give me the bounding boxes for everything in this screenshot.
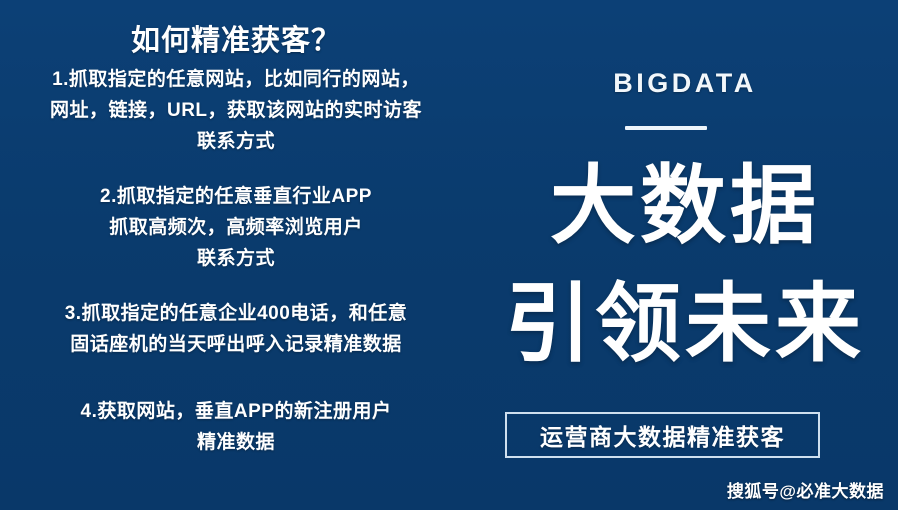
list-item: 2.抓取指定的任意垂直行业APP 抓取高频次，高频率浏览用户 联系方式 — [0, 181, 472, 274]
divider-rule — [625, 126, 707, 130]
bullet-1-line-1: 1.抓取指定的任意网站，比如同行的网站， — [0, 64, 472, 95]
watermark: 搜狐号@必准大数据 — [727, 477, 884, 502]
list-item: 1.抓取指定的任意网站，比如同行的网站， 网址，链接，URL，获取该网站的实时访… — [0, 64, 472, 157]
bullet-4-line-1: 4.获取网站，垂直APP的新注册用户 — [0, 396, 472, 427]
tagline-box: 运营商大数据精准获客 — [505, 412, 820, 458]
bullet-2-line-3: 联系方式 — [0, 243, 472, 274]
bullet-4-line-2: 精准数据 — [0, 427, 472, 458]
tagline-text: 运营商大数据精准获客 — [540, 418, 785, 452]
brand-headline-line-1: 大数据 — [472, 160, 898, 252]
list-item: 3.抓取指定的任意企业400电话，和任意 固话座机的当天呼出呼入记录精准数据 — [0, 298, 472, 360]
bullet-1-line-2: 网址，链接，URL，获取该网站的实时访客 — [0, 95, 472, 126]
bullet-2-line-1: 2.抓取指定的任意垂直行业APP — [0, 181, 472, 212]
brand-headline-line-2: 引领未来 — [472, 278, 898, 370]
poster-canvas: 如何精准获客？ 1.抓取指定的任意网站，比如同行的网站， 网址，链接，URL，获… — [0, 0, 898, 510]
feature-list: 1.抓取指定的任意网站，比如同行的网站， 网址，链接，URL，获取该网站的实时访… — [0, 64, 472, 458]
bullet-3-line-2: 固话座机的当天呼出呼入记录精准数据 — [0, 329, 472, 360]
right-brand-column: BIGDATA 大数据 引领未来 运营商大数据精准获客 — [472, 0, 898, 510]
list-item: 4.获取网站，垂直APP的新注册用户 精准数据 — [0, 396, 472, 458]
bullet-2-line-2: 抓取高频次，高频率浏览用户 — [0, 212, 472, 243]
left-content-column: 如何精准获客？ 1.抓取指定的任意网站，比如同行的网站， 网址，链接，URL，获… — [0, 0, 472, 510]
bullet-3-line-1: 3.抓取指定的任意企业400电话，和任意 — [0, 298, 472, 329]
bullet-1-line-3: 联系方式 — [0, 126, 472, 157]
left-headline: 如何精准获客？ — [0, 17, 472, 59]
brand-eyebrow: BIGDATA — [472, 68, 898, 99]
